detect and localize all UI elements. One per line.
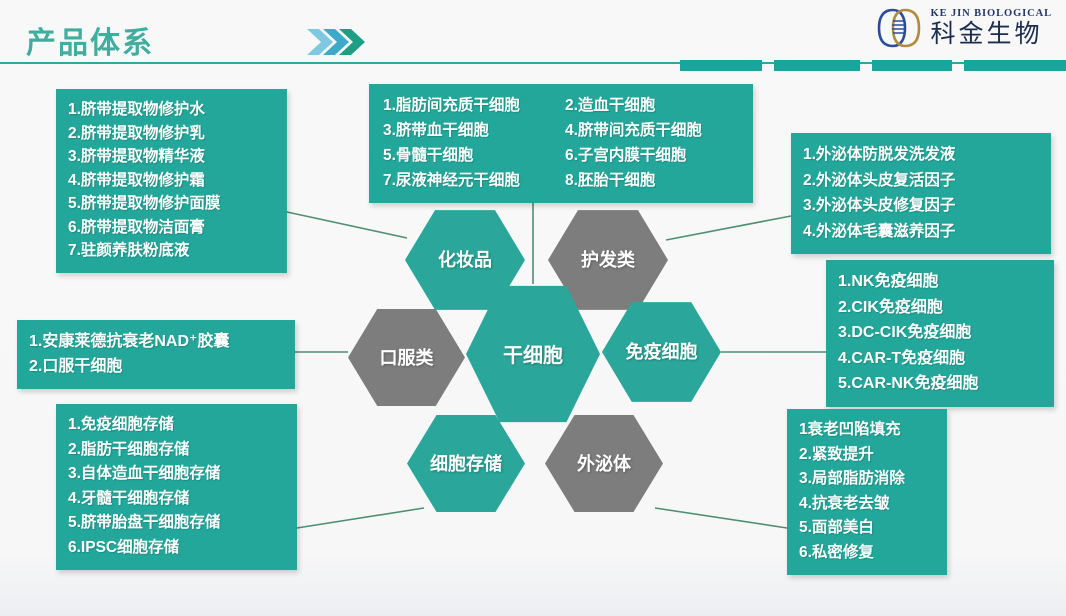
card-haircare: 1.外泌体防脱发洗发液2.外泌体头皮复活因子3.外泌体头皮修复因子4.外泌体毛囊…: [791, 133, 1051, 254]
logo-english-name: KE JIN BIOLOGICAL: [931, 9, 1053, 20]
card-list-item: 4.抗衰老去皱: [799, 492, 935, 517]
card-list-item: 5.骨髓干细胞: [383, 143, 559, 168]
hexagon-immune-cells[interactable]: 免疫细胞: [602, 300, 721, 404]
card-list-item: 1.免疫细胞存储: [68, 413, 285, 438]
card-list-item: 3.脐带血干细胞: [383, 118, 559, 143]
card-list-item: 1.安康莱德抗衰老NAD⁺胶囊: [29, 329, 283, 354]
card-list-item: 2.口服干细胞: [29, 354, 283, 379]
card-list-item: 1.NK免疫细胞: [838, 269, 1042, 295]
card-list-item: 3.脐带提取物精华液: [68, 145, 275, 169]
card-list-item: 2.脐带提取物修护乳: [68, 122, 275, 146]
card-list-item: 8.胚胎干细胞: [565, 168, 741, 193]
hexagon-haircare-label: 护发类: [581, 246, 635, 272]
card-list-item: 5.面部美白: [799, 516, 935, 541]
company-logo: KE JIN BIOLOGICAL 科金生物: [875, 4, 1053, 52]
card-list-item: 4.脐带间充质干细胞: [565, 118, 741, 143]
card-cell-storage: 1.免疫细胞存储2.脂肪干细胞存储3.自体造血干细胞存储4.牙髓干细胞存储5.脐…: [56, 404, 297, 570]
card-list-item: 1衰老凹陷填充: [799, 418, 935, 443]
card-list-item: 1.脂肪间充质干细胞: [383, 93, 559, 118]
card-list-item: 6.子宫内膜干细胞: [565, 143, 741, 168]
card-list-item: 6.私密修复: [799, 541, 935, 566]
card-oral-products: 1.安康莱德抗衰老NAD⁺胶囊2.口服干细胞: [17, 320, 295, 389]
card-list-item: 5.CAR-NK免疫细胞: [838, 371, 1042, 397]
hexagon-immune-cells-label: 免疫细胞: [626, 338, 698, 364]
card-list-item: 3.自体造血干细胞存储: [68, 462, 285, 487]
hexagon-cell-storage-label: 细胞存储: [430, 450, 502, 476]
slide-canvas: 产品体系 KE JIN BIOLOGICAL: [0, 0, 1066, 616]
hexagon-exosome[interactable]: 外泌体: [545, 413, 663, 514]
card-list-item: 2.造血干细胞: [565, 93, 741, 118]
card-list-item: 2.CIK免疫细胞: [838, 295, 1042, 321]
header-accent-bars: [680, 60, 1066, 71]
hexagon-stem-cells-label: 干细胞: [503, 339, 563, 368]
hexagon-oral-label: 口服类: [380, 344, 434, 370]
card-list-item: 3.DC-CIK免疫细胞: [838, 320, 1042, 346]
card-list-item: 1.脐带提取物修护水: [68, 98, 275, 122]
card-exosome-applications: 1衰老凹陷填充2.紧致提升3.局部脂肪消除4.抗衰老去皱5.面部美白6.私密修复: [787, 409, 947, 575]
hexagon-oral[interactable]: 口服类: [348, 307, 465, 408]
page-title: 产品体系: [26, 18, 154, 62]
card-list-item: 4.外泌体毛囊滋养因子: [803, 219, 1039, 245]
card-list-item: 2.紧致提升: [799, 443, 935, 468]
card-list-item: 1.外泌体防脱发洗发液: [803, 142, 1039, 168]
card-cosmetics: 1.脐带提取物修护水2.脐带提取物修护乳3.脐带提取物精华液4.脐带提取物修护霜…: [56, 89, 287, 273]
card-list-item: 6.IPSC细胞存储: [68, 536, 285, 561]
card-list-item: 3.外泌体头皮修复因子: [803, 193, 1039, 219]
card-list-item: 4.脐带提取物修护霜: [68, 169, 275, 193]
card-list-item: 5.脐带提取物修护面膜: [68, 192, 275, 216]
chevron-decoration: [307, 27, 369, 57]
logo-chinese-name: 科金生物: [931, 22, 1053, 47]
card-immune-cells: 1.NK免疫细胞2.CIK免疫细胞3.DC-CIK免疫细胞4.CAR-T免疫细胞…: [826, 260, 1054, 407]
card-list-item: 3.局部脂肪消除: [799, 467, 935, 492]
card-stem-cell-types: 1.脂肪间充质干细胞2.造血干细胞3.脐带血干细胞4.脐带间充质干细胞5.骨髓干…: [369, 84, 753, 203]
hexagon-cell-storage[interactable]: 细胞存储: [407, 413, 525, 514]
card-list-item: 6.脐带提取物洁面膏: [68, 216, 275, 240]
card-list-item: 4.CAR-T免疫细胞: [838, 346, 1042, 372]
card-list-item: 2.外泌体头皮复活因子: [803, 168, 1039, 194]
hexagon-cosmetics-label: 化妆品: [438, 246, 492, 272]
logo-dna-icon: [875, 4, 923, 52]
hexagon-exosome-label: 外泌体: [577, 450, 631, 476]
card-list-item: 5.脐带胎盘干细胞存储: [68, 511, 285, 536]
card-list-item: 7.驻颜养肤粉底液: [68, 239, 275, 263]
card-list-item: 4.牙髓干细胞存储: [68, 487, 285, 512]
card-list-item: 2.脂肪干细胞存储: [68, 438, 285, 463]
card-list-item: 7.尿液神经元干细胞: [383, 168, 559, 193]
